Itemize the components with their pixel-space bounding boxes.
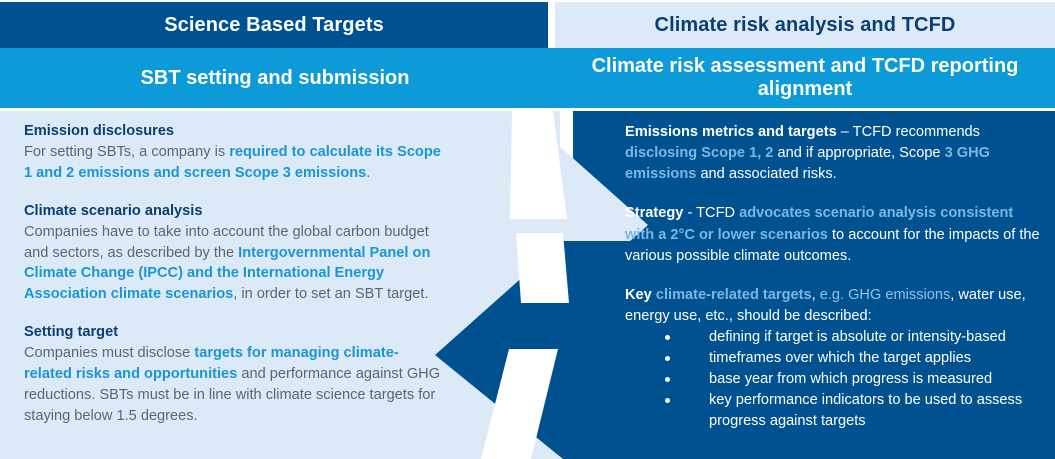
header-left-science-based-targets: Science Based Targets [0,2,548,48]
text-pre: Companies must disclose [24,345,194,361]
list-item: defining if target is absolute or intens… [665,327,1043,348]
left-block-climate-scenario-analysis: Climate scenario analysis Companies have… [24,202,444,305]
key-targets-bullet-list: defining if target is absolute or intens… [625,327,1043,431]
right-block-body: Emissions metrics and targets – TCFD rec… [625,122,1043,185]
text-highlight-a: disclosing Scope 1, 2 [625,145,773,161]
right-block-key-climate-related-targets: Key climate-related targets, e.g. GHG em… [625,285,1043,432]
text-highlight-b: e.g. GHG emissions [820,287,951,303]
header-row-secondary: SBT setting and submission Climate risk … [0,48,1055,108]
subheader-right-title: Climate risk assessment and TCFD reporti… [563,55,1047,101]
subheader-left: SBT setting and submission [0,48,550,108]
right-block-body: Key climate-related targets, e.g. GHG em… [625,285,1043,327]
text-seg-a: – TCFD recommends [837,124,980,140]
sbt-tcfd-comparison-infographic: Science Based Targets Climate risk analy… [0,0,1055,459]
text-seg-b: and if appropriate, Scope [773,145,944,161]
right-block-emissions-metrics-targets: Emissions metrics and targets – TCFD rec… [625,122,1043,185]
subheader-left-title: SBT setting and submission [141,67,410,90]
left-block-heading: Setting target [24,323,444,342]
text-lead: Emissions metrics and targets [625,124,837,140]
left-block-heading: Emission disclosures [24,122,444,141]
header-row-primary: Science Based Targets Climate risk analy… [0,2,1055,48]
body-area: Emission disclosures For setting SBTs, a… [0,111,1055,459]
right-block-body: Strategy - TCFD advocates scenario analy… [625,203,1043,266]
left-block-heading: Climate scenario analysis [24,202,444,221]
right-block-strategy: Strategy - TCFD advocates scenario analy… [625,203,1043,266]
list-item: timeframes over which the target applies [665,348,1043,369]
text-seg-b: , [812,287,820,303]
text-highlight-a: climate-related targets [656,287,812,303]
text-post: , in order to set an SBT target. [233,286,428,302]
text-seg-a: - TCFD [683,205,739,221]
left-block-body: Companies must disclose targets for mana… [24,343,444,426]
text-pre: For setting SBTs, a company is [24,144,229,160]
text-lead: Strategy [625,205,683,221]
left-block-body: For setting SBTs, a company is required … [24,142,444,184]
list-item: key performance indicators to be used to… [665,390,1043,432]
text-post: . [366,165,370,181]
header-right-title: Climate risk analysis and TCFD [655,14,956,37]
header-left-title: Science Based Targets [164,14,384,37]
text-seg-c: and associated risks. [696,166,836,182]
header-right-climate-risk-tcfd: Climate risk analysis and TCFD [555,2,1055,48]
text-lead: Key [625,287,652,303]
left-block-body: Companies have to take into account the … [24,222,444,305]
right-column-content: Emissions metrics and targets – TCFD rec… [625,122,1043,432]
left-column-content: Emission disclosures For setting SBTs, a… [24,122,444,427]
list-item: base year from which progress is measure… [665,369,1043,390]
left-block-setting-target: Setting target Companies must disclose t… [24,323,444,426]
left-block-emission-disclosures: Emission disclosures For setting SBTs, a… [24,122,444,184]
subheader-right: Climate risk assessment and TCFD reporti… [555,48,1055,108]
